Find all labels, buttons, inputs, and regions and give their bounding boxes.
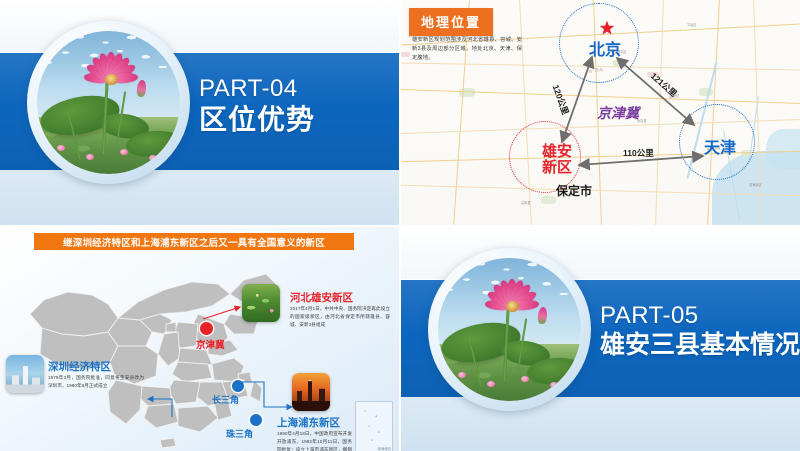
distance-label-xiongan-tianjin: 110公里 <box>623 147 654 159</box>
lotus-circle-frame <box>27 21 190 184</box>
part-label: PART-04 <box>199 76 315 101</box>
south-china-sea-inset: 南海诸岛 <box>355 401 393 451</box>
inset-label: 南海诸岛 <box>377 446 391 451</box>
slide-national-zones[interactable]: 继深圳经济特区和上海浦东新区之后又一具有全国意义的新区 <box>0 227 399 451</box>
horizontal-gutter <box>0 225 800 227</box>
page-title: 雄安三县基本情况 <box>600 331 800 359</box>
part-label: PART-05 <box>600 303 800 328</box>
card-body-xiongan: 2017年4月1日，中共中央、国务院决定再此设立的国家级新区，由河北省保定市所辖… <box>290 305 390 330</box>
title-block: PART-04 区位优势 <box>199 76 315 136</box>
card-title-xiongan: 河北雄安新区 <box>290 290 353 305</box>
xiongan-line1: 雄安 <box>542 143 572 159</box>
slide-part-04[interactable]: PART-04 区位优势 <box>0 0 399 225</box>
card-body-shenzhen: 1979年3月，国务院批准，同意将宝安县改为深圳市，1980年8月正式成立 <box>48 374 144 390</box>
lotus-flower <box>80 48 143 97</box>
slide-deck: PART-04 区位优势 昌平区 <box>0 0 800 451</box>
title-block: PART-05 雄安三县基本情况 <box>600 303 800 359</box>
slide-geo-location[interactable]: 昌平区 门头沟 安新 武清区 廊坊 永清县 高阳县 滨海新区 涿鹿县 平谷区 地… <box>401 0 800 225</box>
city-label-baoding: 保定市 <box>556 182 592 199</box>
card-body-pudong: 1990年4月18日，中国政府宣布开发开放浦东，1992年10月11日，国务院批… <box>277 430 352 451</box>
thumbnail-pudong[interactable] <box>292 373 330 411</box>
city-label-xiongan: 雄安 新区 <box>542 143 572 175</box>
region-label-jingjinji: 京津冀 <box>597 103 639 123</box>
flower-core <box>105 74 118 85</box>
flower-core <box>506 301 519 312</box>
thumbnail-xiongan[interactable] <box>242 284 280 322</box>
card-title-shenzhen: 深圳经济特区 <box>48 359 111 374</box>
xiongan-line2: 新区 <box>542 159 572 175</box>
city-label-tianjin: 天津 <box>704 134 736 158</box>
thumbnail-shenzhen[interactable] <box>6 355 44 393</box>
lotus-flower <box>481 275 544 324</box>
city-label-beijing: 北京 <box>589 36 621 60</box>
page-title: 区位优势 <box>199 104 315 135</box>
card-title-pudong: 上海浦东新区 <box>277 415 340 430</box>
slide-part-05[interactable]: PART-05 雄安三县基本情况 <box>401 227 800 451</box>
lotus-circle-frame <box>428 248 591 411</box>
lotus-photo <box>438 258 581 401</box>
lotus-photo <box>37 31 180 174</box>
